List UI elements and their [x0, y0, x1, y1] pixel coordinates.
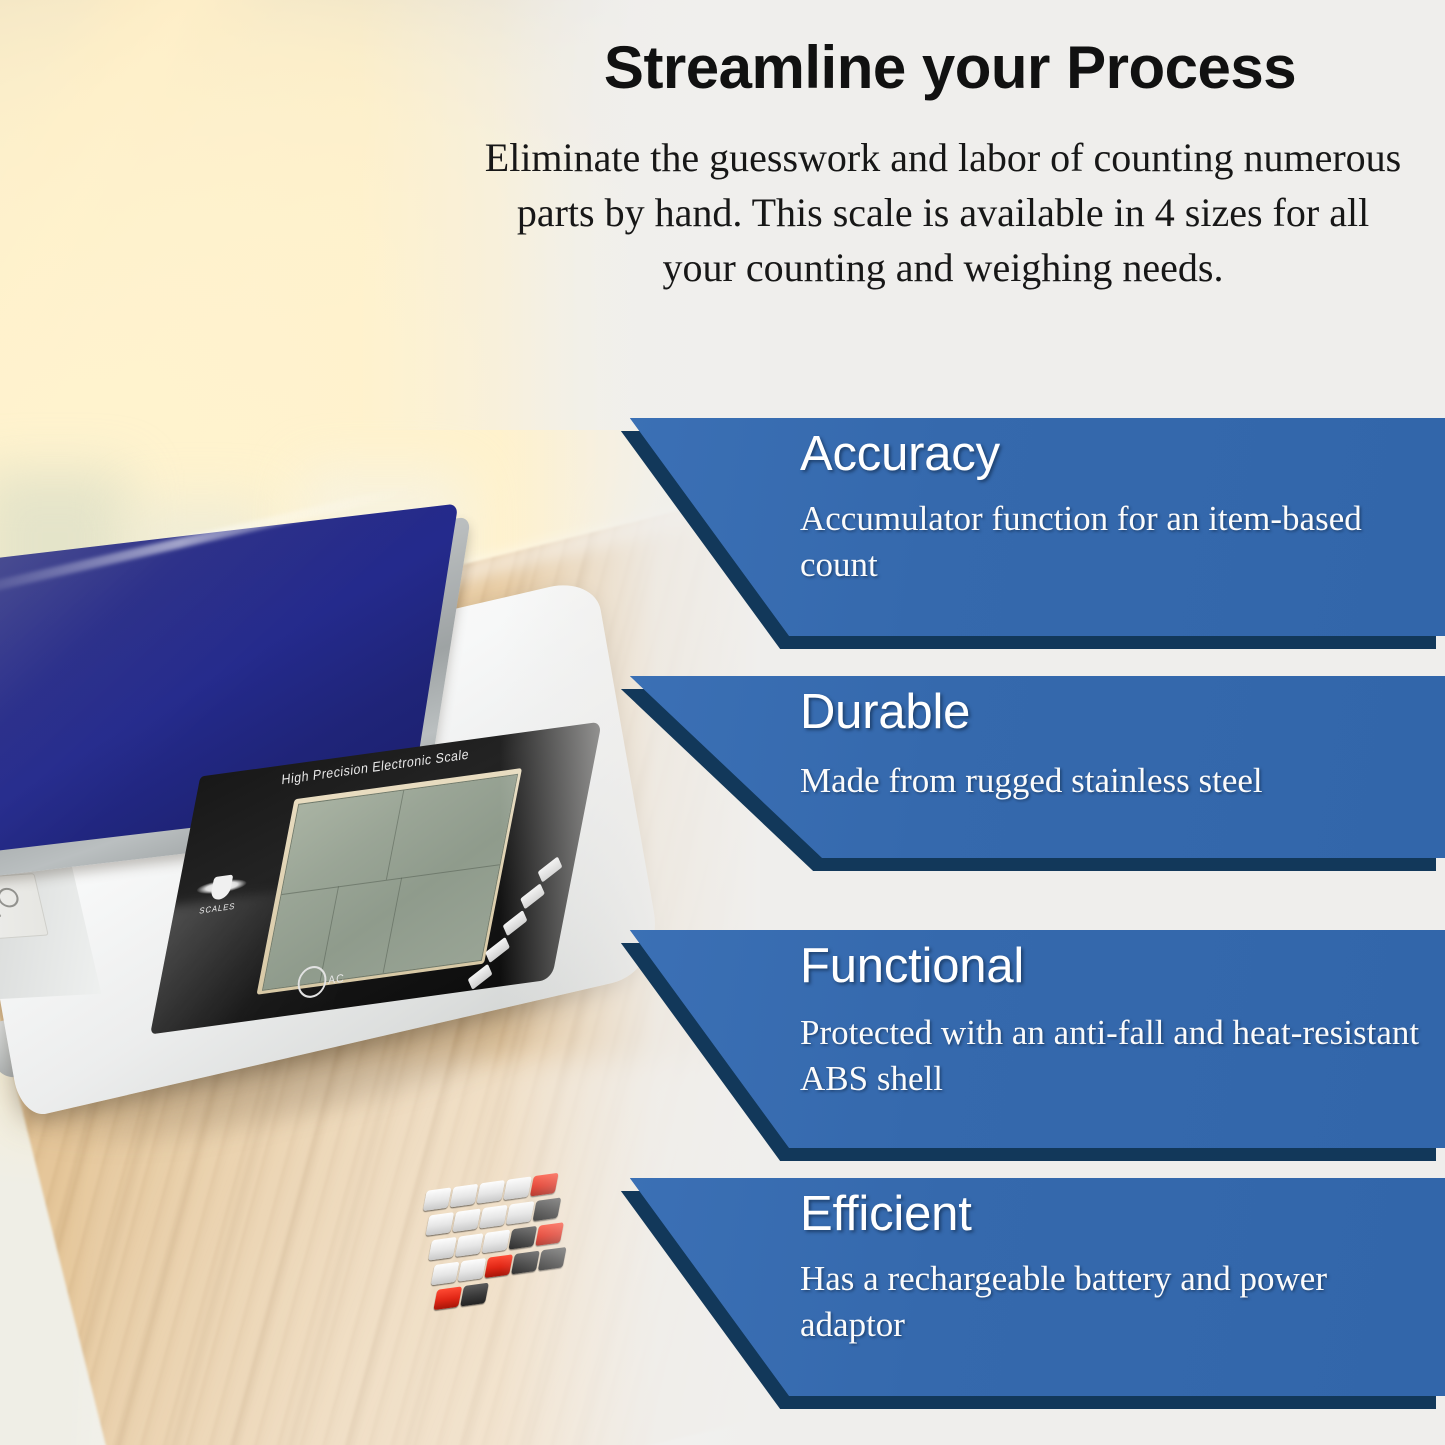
feature-banner-efficient: Efficient Has a rechargeable battery and…: [620, 1178, 1445, 1396]
feature-body: Made from rugged stainless steel: [800, 758, 1263, 804]
keypad-key-power[interactable]: [433, 1286, 462, 1310]
logo-label: SCALES: [194, 901, 242, 917]
keypad-key[interactable]: [452, 1208, 481, 1232]
feature-body: Has a rechargeable battery and power ada…: [800, 1256, 1420, 1347]
keypad-key[interactable]: [428, 1237, 457, 1261]
feature-title: Accuracy: [800, 430, 1000, 479]
product-feature-infographic: High Precision Electronic Scale SCALES: [0, 0, 1445, 1445]
feature-body: Protected with an anti-fall and heat-res…: [800, 1010, 1420, 1101]
page-subtitle: Eliminate the guesswork and labor of cou…: [478, 130, 1408, 296]
keypad-key[interactable]: [450, 1184, 479, 1208]
function-key[interactable]: [468, 964, 493, 990]
keypad-key[interactable]: [423, 1187, 452, 1211]
keypad-key[interactable]: [431, 1262, 460, 1286]
feature-title: Durable: [800, 688, 970, 737]
feature-banner-durable: Durable Made from rugged stainless steel: [620, 676, 1445, 858]
keypad-key-function[interactable]: [460, 1283, 489, 1307]
feature-banner-accuracy: Accuracy Accumulator function for an ite…: [620, 418, 1445, 636]
keypad-key[interactable]: [425, 1212, 454, 1236]
keypad-key[interactable]: [457, 1258, 486, 1282]
keypad-key[interactable]: [455, 1233, 484, 1257]
feature-banner-functional: Functional Protected with an anti-fall a…: [620, 930, 1445, 1148]
feature-title: Efficient: [800, 1190, 972, 1239]
feature-title: Functional: [800, 942, 1024, 991]
feature-body: Accumulator function for an item-based c…: [800, 496, 1420, 587]
page-title: Streamline your Process: [480, 36, 1420, 99]
ac-label: AC: [328, 972, 345, 987]
